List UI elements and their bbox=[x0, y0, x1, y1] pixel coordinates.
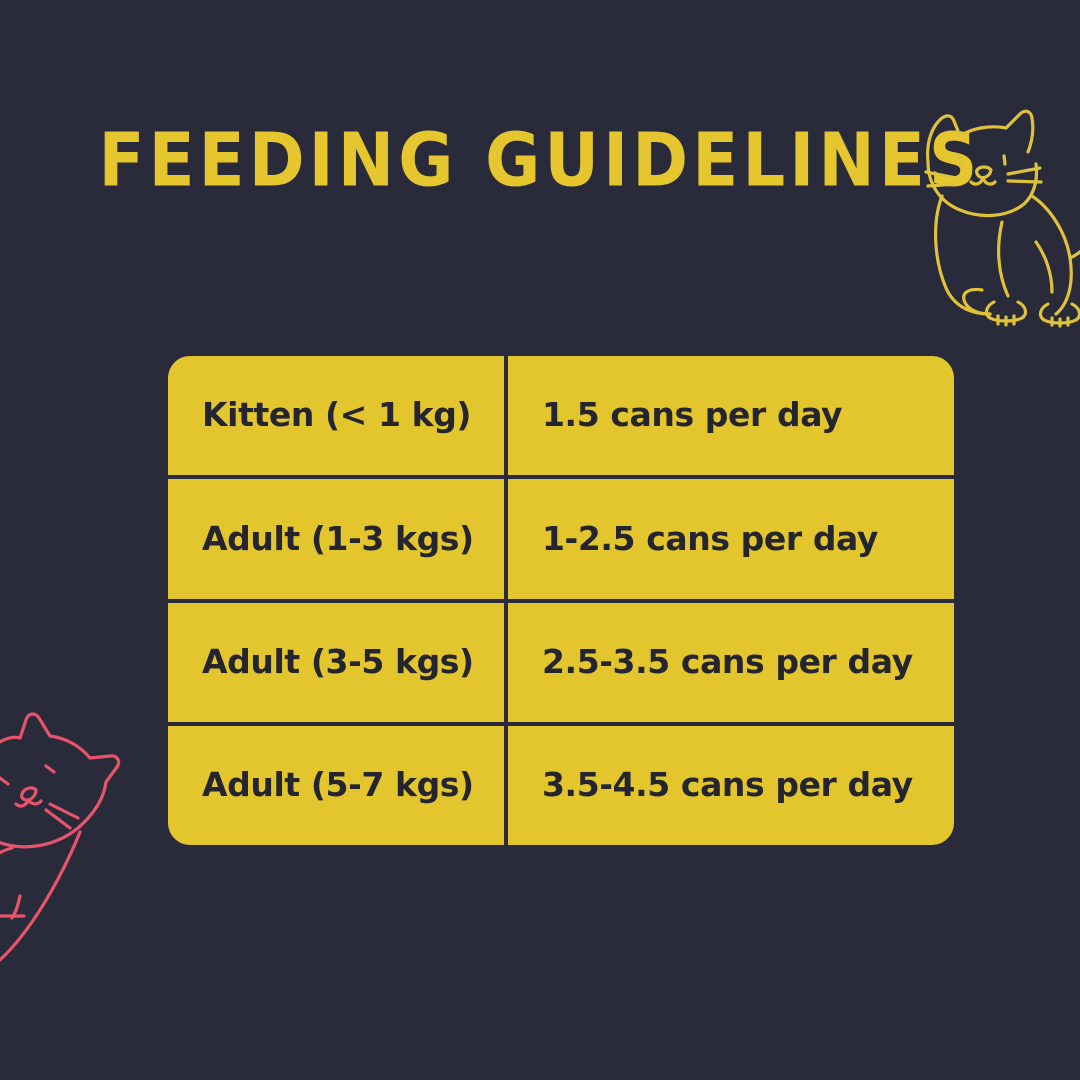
table-row: Adult (5-7 kgs) 3.5-4.5 cans per day bbox=[168, 726, 954, 845]
table-cell-category: Kitten (< 1 kg) bbox=[168, 356, 504, 475]
table-cell-text: 1.5 cans per day bbox=[542, 397, 842, 433]
cat-illustration-bottom-left bbox=[0, 700, 168, 1050]
table-cell-text: 1-2.5 cans per day bbox=[542, 521, 878, 557]
table-cell-amount: 1-2.5 cans per day bbox=[508, 479, 954, 598]
table-cell-amount: 1.5 cans per day bbox=[508, 356, 954, 475]
table-cell-amount: 3.5-4.5 cans per day bbox=[508, 726, 954, 845]
table-cell-category: Adult (1-3 kgs) bbox=[168, 479, 504, 598]
feeding-guidelines-table: Kitten (< 1 kg) 1.5 cans per day Adult (… bbox=[168, 356, 954, 845]
table-cell-text: 3.5-4.5 cans per day bbox=[542, 767, 913, 803]
table-cell-text: 2.5-3.5 cans per day bbox=[542, 644, 913, 680]
table-cell-amount: 2.5-3.5 cans per day bbox=[508, 603, 954, 722]
page-title: FEEDING GUIDELINES bbox=[0, 124, 1080, 198]
table-row: Kitten (< 1 kg) 1.5 cans per day bbox=[168, 356, 954, 475]
table-cell-text: Adult (3-5 kgs) bbox=[202, 644, 474, 680]
table-cell-category: Adult (3-5 kgs) bbox=[168, 603, 504, 722]
table-cell-text: Kitten (< 1 kg) bbox=[202, 397, 471, 433]
table-cell-text: Adult (5-7 kgs) bbox=[202, 767, 474, 803]
feeding-guidelines-poster: FEEDING GUIDELINES bbox=[0, 0, 1080, 1080]
table-cell-category: Adult (5-7 kgs) bbox=[168, 726, 504, 845]
table-row: Adult (3-5 kgs) 2.5-3.5 cans per day bbox=[168, 603, 954, 722]
table-cell-text: Adult (1-3 kgs) bbox=[202, 521, 474, 557]
table-row: Adult (1-3 kgs) 1-2.5 cans per day bbox=[168, 479, 954, 598]
